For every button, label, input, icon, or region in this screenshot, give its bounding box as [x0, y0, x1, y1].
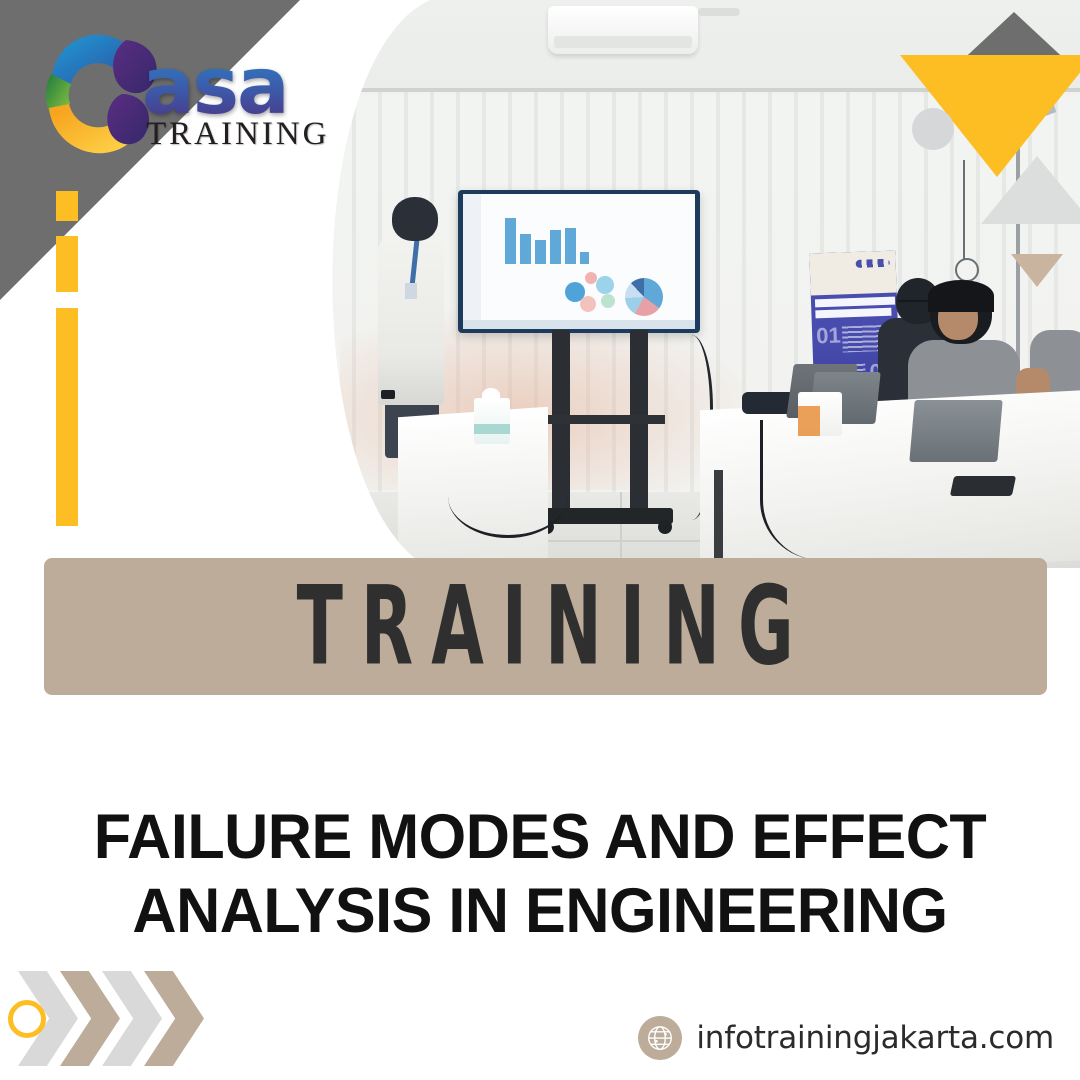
screen-bubble — [580, 296, 596, 312]
website-url[interactable]: infotrainingjakarta.com — [696, 1020, 1054, 1056]
globe-icon — [638, 1016, 682, 1060]
page-title-line-2: ANALYSIS IN ENGINEERING — [74, 874, 1005, 948]
air-conditioner — [548, 6, 698, 54]
screen-pie-chart — [625, 278, 663, 316]
screen-bar-chart — [505, 218, 585, 264]
screen-bubble — [601, 294, 615, 308]
banner-header — [809, 251, 896, 296]
table-leg — [714, 470, 723, 566]
floor-tile-line — [620, 492, 622, 568]
yellow-ring-icon — [8, 1000, 46, 1038]
training-banner: TRAINING — [44, 558, 1047, 695]
table-cable — [760, 420, 853, 560]
beige-triangle-icon — [1011, 254, 1063, 287]
smartphone — [950, 476, 1016, 496]
training-banner-label: TRAINING — [279, 563, 812, 689]
presenter-head — [392, 197, 438, 241]
presenter-watch — [381, 390, 395, 399]
participant-table — [700, 390, 1080, 568]
screen-stand-pole — [630, 330, 648, 520]
laptop — [909, 400, 1002, 462]
yellow-bar-3 — [56, 308, 78, 526]
tissue-box — [474, 398, 510, 444]
banner-step-number-1: 01 — [816, 323, 841, 350]
logo-wordmark: asa TRAINING — [142, 56, 392, 153]
screen-sidebar — [463, 194, 481, 320]
yellow-bar-1 — [56, 191, 78, 221]
screen-stand-wheel — [658, 520, 672, 534]
footer-website[interactable]: infotrainingjakarta.com — [638, 1016, 1054, 1060]
white-triangle-icon — [981, 156, 1080, 224]
brand-logo[interactable]: asa TRAINING — [34, 22, 354, 172]
presenter-shirt — [378, 235, 444, 405]
screen-taskbar — [463, 320, 695, 329]
page-title: FAILURE MODES AND EFFECT ANALYSIS IN ENG… — [74, 800, 1005, 949]
banner-dots — [856, 259, 890, 268]
banner-title-line-1 — [815, 297, 895, 308]
yellow-bar-2 — [56, 236, 78, 292]
presenter-badge — [405, 283, 417, 299]
poster-canvas: 01 02 — [0, 0, 1080, 1080]
banner-title-line-2 — [815, 308, 891, 319]
participant-3-hair — [928, 280, 994, 312]
screen-stand-shelf — [540, 415, 665, 424]
aircon-pipe — [698, 8, 740, 16]
gray-circle-icon — [912, 108, 954, 150]
page-title-line-1: FAILURE MODES AND EFFECT — [74, 800, 1005, 874]
floor-cable — [448, 455, 568, 538]
hanging-ring-icon — [955, 258, 979, 282]
participant-2-glasses — [898, 300, 930, 310]
screen-bubble — [596, 276, 614, 294]
logo-name: asa — [142, 56, 392, 120]
